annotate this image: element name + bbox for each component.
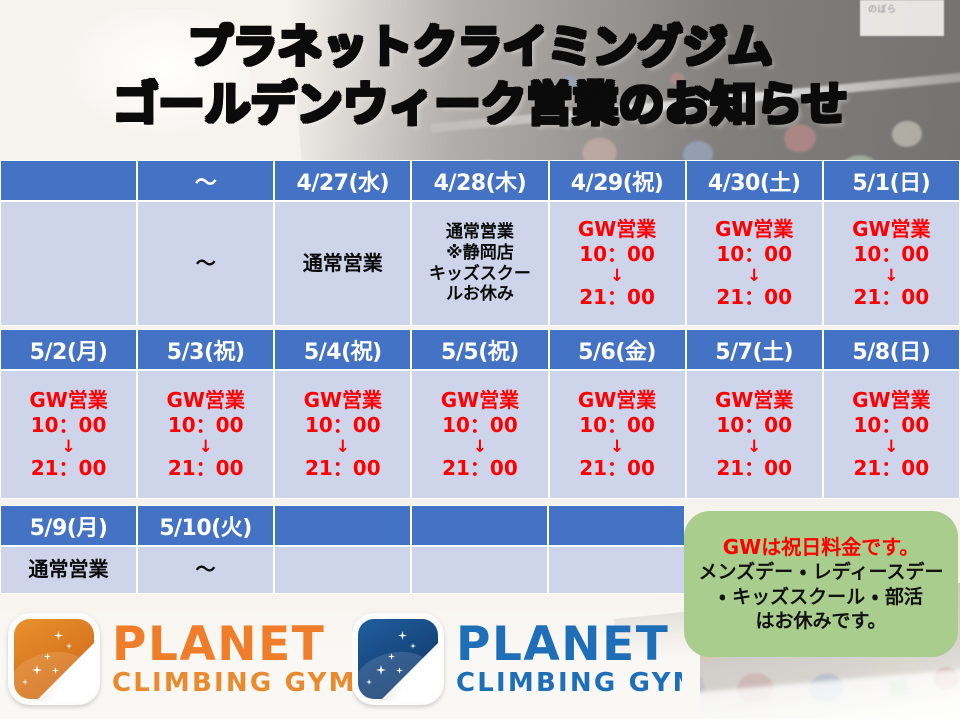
schedule-cell-line: 21：00 — [305, 456, 381, 481]
schedule-cell-line: キッズスクー — [429, 264, 531, 285]
logo-subtitle: CLIMBING GYM — [456, 671, 682, 696]
date-header-cell: 4/30(土) — [686, 160, 823, 201]
schedule-cell-line: 10：00 — [853, 242, 929, 267]
schedule-cell-line: 10：00 — [31, 413, 107, 438]
schedule-cell: GW営業10：00↓21：00 — [686, 370, 823, 499]
schedule-cell-line: 〜 — [196, 557, 216, 582]
date-header-cell: 5/7(土) — [686, 329, 823, 370]
notice-line: メンズデー ・ レディースデー — [698, 560, 943, 585]
schedule-cell-line: GW営業 — [852, 388, 930, 413]
schedule-cell-line: 10：00 — [853, 413, 929, 438]
schedule-cell-line: 10：00 — [305, 413, 381, 438]
schedule-cell-line: GW営業 — [715, 388, 793, 413]
planet-mark-icon — [8, 613, 100, 705]
schedule-cell-line: 10：00 — [716, 413, 792, 438]
schedule-cell-line: 21：00 — [853, 285, 929, 310]
logo-wordmark: PLANET CLIMBING GYM — [456, 622, 682, 695]
schedule-cell-line: ルお休み — [446, 284, 514, 305]
schedule-cell-line: 21：00 — [442, 456, 518, 481]
schedule-block-2: 5/2(月)5/3(祝)5/4(祝)5/5(祝)5/6(金)5/7(土)5/8(… — [0, 329, 960, 499]
date-header-cell: 5/2(月) — [0, 329, 137, 370]
arrow-icon: ↓ — [199, 439, 213, 456]
schedule-cell-line: GW営業 — [578, 217, 656, 242]
schedule-cell-line: 21：00 — [31, 456, 107, 481]
schedule-cell: GW営業10：00↓21：00 — [549, 201, 686, 326]
arrow-icon: ↓ — [61, 439, 75, 456]
schedule-block-1: 〜4/27(水)4/28(木)4/29(祝)4/30(土)5/1(日) 〜通常営… — [0, 160, 960, 326]
schedule-cell-line: GW営業 — [29, 388, 107, 413]
schedule-cell: GW営業10：00↓21：00 — [137, 370, 274, 499]
background-glare — [60, 10, 250, 140]
date-header-cell-empty — [411, 505, 548, 546]
schedule-cell: 通常営業※静岡店キッズスクールお休み — [411, 201, 548, 326]
schedule-cell-line: 21：00 — [853, 456, 929, 481]
schedule-cell: 〜 — [137, 201, 274, 326]
arrow-icon: ↓ — [610, 268, 624, 285]
schedule-cell-line: 10：00 — [579, 242, 655, 267]
table-body-row: GW営業10：00↓21：00GW営業10：00↓21：00GW営業10：00↓… — [0, 370, 960, 499]
arrow-icon: ↓ — [336, 439, 350, 456]
schedule-cell-line: 通常営業 — [29, 557, 109, 582]
background-watermark-text: のぼら — [860, 0, 944, 15]
schedule-cell: GW営業10：00↓21：00 — [0, 370, 137, 499]
logo-wordmark: PLANET CLIMBING GYM — [112, 622, 357, 695]
notice-line: GWは祝日料金です。 — [723, 534, 919, 560]
date-header-cell-empty — [548, 505, 685, 546]
schedule-cell-line: GW営業 — [715, 217, 793, 242]
date-header-cell: 4/27(水) — [274, 160, 411, 201]
date-header-cell: 5/8(日) — [823, 329, 960, 370]
schedule-cell: GW営業10：00↓21：00 — [274, 370, 411, 499]
logo-name: PLANET — [456, 622, 682, 667]
table-header-row: 5/2(月)5/3(祝)5/4(祝)5/5(祝)5/6(金)5/7(土)5/8(… — [0, 329, 960, 370]
schedule-cell-line: 21：00 — [579, 456, 655, 481]
notice-box: GWは祝日料金です。メンズデー ・ レディースデー・ キッズスクール ・ 部活は… — [684, 511, 958, 657]
schedule-cell-line: 10：00 — [442, 413, 518, 438]
schedule-cell-line: GW営業 — [852, 217, 930, 242]
date-header-cell: 5/1(日) — [823, 160, 960, 201]
schedule-cell-empty — [0, 201, 137, 326]
schedule-cell: GW営業10：00↓21：00 — [411, 370, 548, 499]
logo-planet-blue: PLANET CLIMBING GYM — [352, 599, 682, 719]
planet-mark-icon — [352, 613, 444, 705]
schedule-cell-line: 21：00 — [716, 285, 792, 310]
date-header-cell: 4/29(祝) — [549, 160, 686, 201]
schedule-cell-empty — [411, 546, 548, 594]
notice-line: ・ キッズスクール ・ 部活 — [719, 585, 923, 610]
arrow-icon: ↓ — [884, 439, 898, 456]
date-header-cell: 5/6(金) — [549, 329, 686, 370]
schedule-cell: 〜 — [137, 546, 274, 594]
date-header-cell: 5/4(祝) — [274, 329, 411, 370]
schedule-block-3: 5/9(月)5/10(火) 通常営業〜 — [0, 505, 685, 594]
table-header-row: 〜4/27(水)4/28(木)4/29(祝)4/30(土)5/1(日) — [0, 160, 960, 201]
date-header-cell: 〜 — [137, 160, 274, 201]
notice-line: はお休みです。 — [755, 609, 886, 634]
arrow-icon: ↓ — [747, 268, 761, 285]
schedule-cell-line: 21：00 — [579, 285, 655, 310]
table-header-row: 5/9(月)5/10(火) — [0, 505, 685, 546]
date-header-cell: 4/28(木) — [411, 160, 548, 201]
schedule-cell-line: 21：00 — [168, 456, 244, 481]
date-header-cell-empty — [274, 505, 411, 546]
schedule-cell-empty — [548, 546, 685, 594]
schedule-cell-line: 通常営業 — [303, 251, 383, 276]
arrow-icon: ↓ — [473, 439, 487, 456]
schedule-cell: GW営業10：00↓21：00 — [549, 370, 686, 499]
logo-planet-orange: PLANET CLIMBING GYM — [8, 599, 357, 719]
table-body-row: 〜通常営業通常営業※静岡店キッズスクールお休みGW営業10：00↓21：00GW… — [0, 201, 960, 326]
schedule-cell-line: 通常営業 — [446, 222, 514, 243]
schedule-cell-line: GW営業 — [578, 388, 656, 413]
schedule-cell-line: 10：00 — [168, 413, 244, 438]
background-watermark: のぼら — [860, 0, 944, 36]
schedule-cell-line: ※静岡店 — [446, 243, 514, 264]
logo-name: PLANET — [112, 622, 357, 667]
schedule-cell-line: 10：00 — [579, 413, 655, 438]
schedule-cell: 通常営業 — [0, 546, 137, 594]
schedule-cell: GW営業10：00↓21：00 — [686, 201, 823, 326]
logo-subtitle: CLIMBING GYM — [112, 671, 357, 696]
schedule-cell: 通常営業 — [274, 201, 411, 326]
schedule-cell-line: GW営業 — [304, 388, 382, 413]
schedule-cell-empty — [274, 546, 411, 594]
date-header-cell: 5/9(月) — [0, 505, 137, 546]
arrow-icon: ↓ — [747, 439, 761, 456]
schedule-cell: GW営業10：00↓21：00 — [823, 201, 960, 326]
schedule-cell-line: 10：00 — [716, 242, 792, 267]
arrow-icon: ↓ — [884, 268, 898, 285]
schedule-cell-line: 〜 — [196, 251, 216, 276]
date-header-cell: 5/5(祝) — [411, 329, 548, 370]
date-header-cell: 5/3(祝) — [137, 329, 274, 370]
table-body-row: 通常営業〜 — [0, 546, 685, 594]
schedule-cell: GW営業10：00↓21：00 — [823, 370, 960, 499]
date-header-cell-empty — [0, 160, 137, 201]
schedule-cell-line: GW営業 — [166, 388, 244, 413]
date-header-cell: 5/10(火) — [137, 505, 274, 546]
arrow-icon: ↓ — [610, 439, 624, 456]
schedule-cell-line: 21：00 — [716, 456, 792, 481]
schedule-cell-line: GW営業 — [441, 388, 519, 413]
